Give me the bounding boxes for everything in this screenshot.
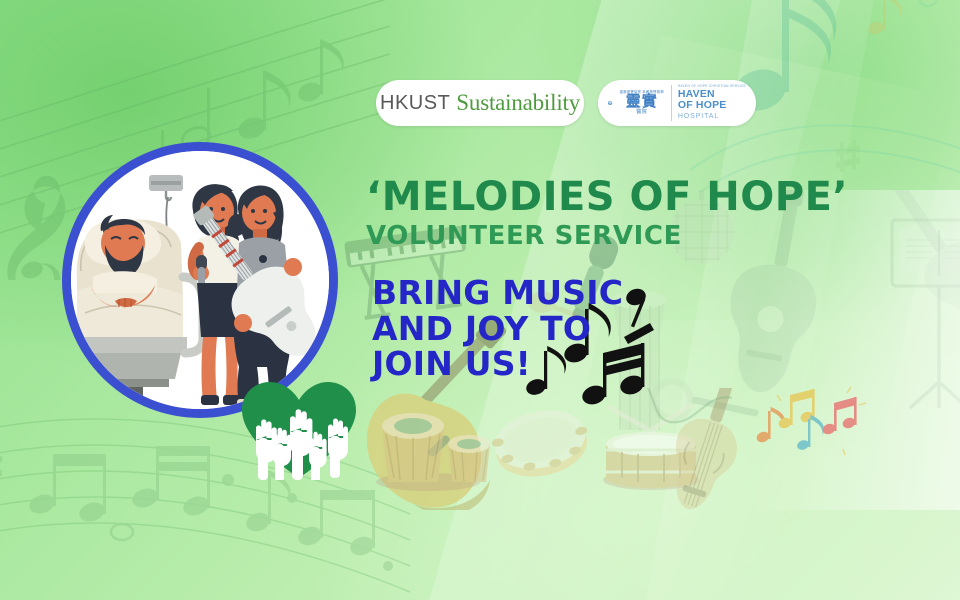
- hkust-sustainability-wordmark: Sustainability: [456, 90, 580, 116]
- volunteer-heart-hands-logo: [240, 380, 358, 480]
- violin-icon: [657, 388, 763, 518]
- bottom-instrument-row: [360, 388, 780, 518]
- page-title: ‘MELODIES OF HOPE’: [366, 176, 848, 218]
- promotional-banner: HKUST Sustainability 香港靈實協會 本著基督精神 靈實 醫院: [0, 0, 960, 600]
- tabla-drums-icon: [376, 413, 490, 491]
- logo-bar: HKUST Sustainability 香港靈實協會 本著基督精神 靈實 醫院: [376, 80, 756, 126]
- floating-color-notes: [755, 385, 875, 465]
- tambourine-icon: [487, 402, 594, 485]
- hoh-english-wordmark: HAVEN OF HOPE CHRISTIAN SERVICE HAVEN OF…: [671, 85, 746, 121]
- hoh-english-sub: HOSPITAL: [678, 113, 746, 121]
- cta-line-1: BRING MUSIC: [372, 275, 623, 311]
- music-stand-icon: [892, 220, 960, 408]
- hoh-chinese-wordmark: 香港靈實協會 本著基督精神 靈實 醫院: [620, 91, 664, 115]
- page-subtitle: VOLUNTEER SERVICE: [366, 222, 848, 252]
- hkust-sustainability-logo[interactable]: HKUST Sustainability: [376, 80, 584, 126]
- hospital-music-illustration: [62, 142, 338, 418]
- treble-clef-icon: [7, 176, 65, 280]
- cta-line-3: JOIN US!: [372, 346, 623, 382]
- hoh-english-line-2: OF HOPE: [678, 100, 746, 112]
- hoh-chinese-name: 靈實: [626, 94, 658, 109]
- call-to-action-text: BRING MUSIC AND JOY TO JOIN US!: [372, 275, 623, 382]
- headline-block: ‘MELODIES OF HOPE’ VOLUNTEER SERVICE: [366, 176, 848, 252]
- snare-drum-icon: [603, 406, 699, 490]
- hoh-chinese-sub: 醫院: [636, 110, 647, 115]
- haven-of-hope-figure-icon: [608, 87, 613, 119]
- cta-line-2: AND JOY TO: [372, 311, 623, 347]
- haven-of-hope-hospital-logo[interactable]: 香港靈實協會 本著基督精神 靈實 醫院 HAVEN OF HOPE CHRIST…: [598, 80, 756, 126]
- hkust-wordmark: HKUST: [380, 92, 450, 115]
- electric-guitar-icon: [871, 190, 960, 343]
- audio-cable-icon: [623, 388, 732, 422]
- banjo-icon: [650, 378, 759, 422]
- background-wash-right: [520, 0, 960, 320]
